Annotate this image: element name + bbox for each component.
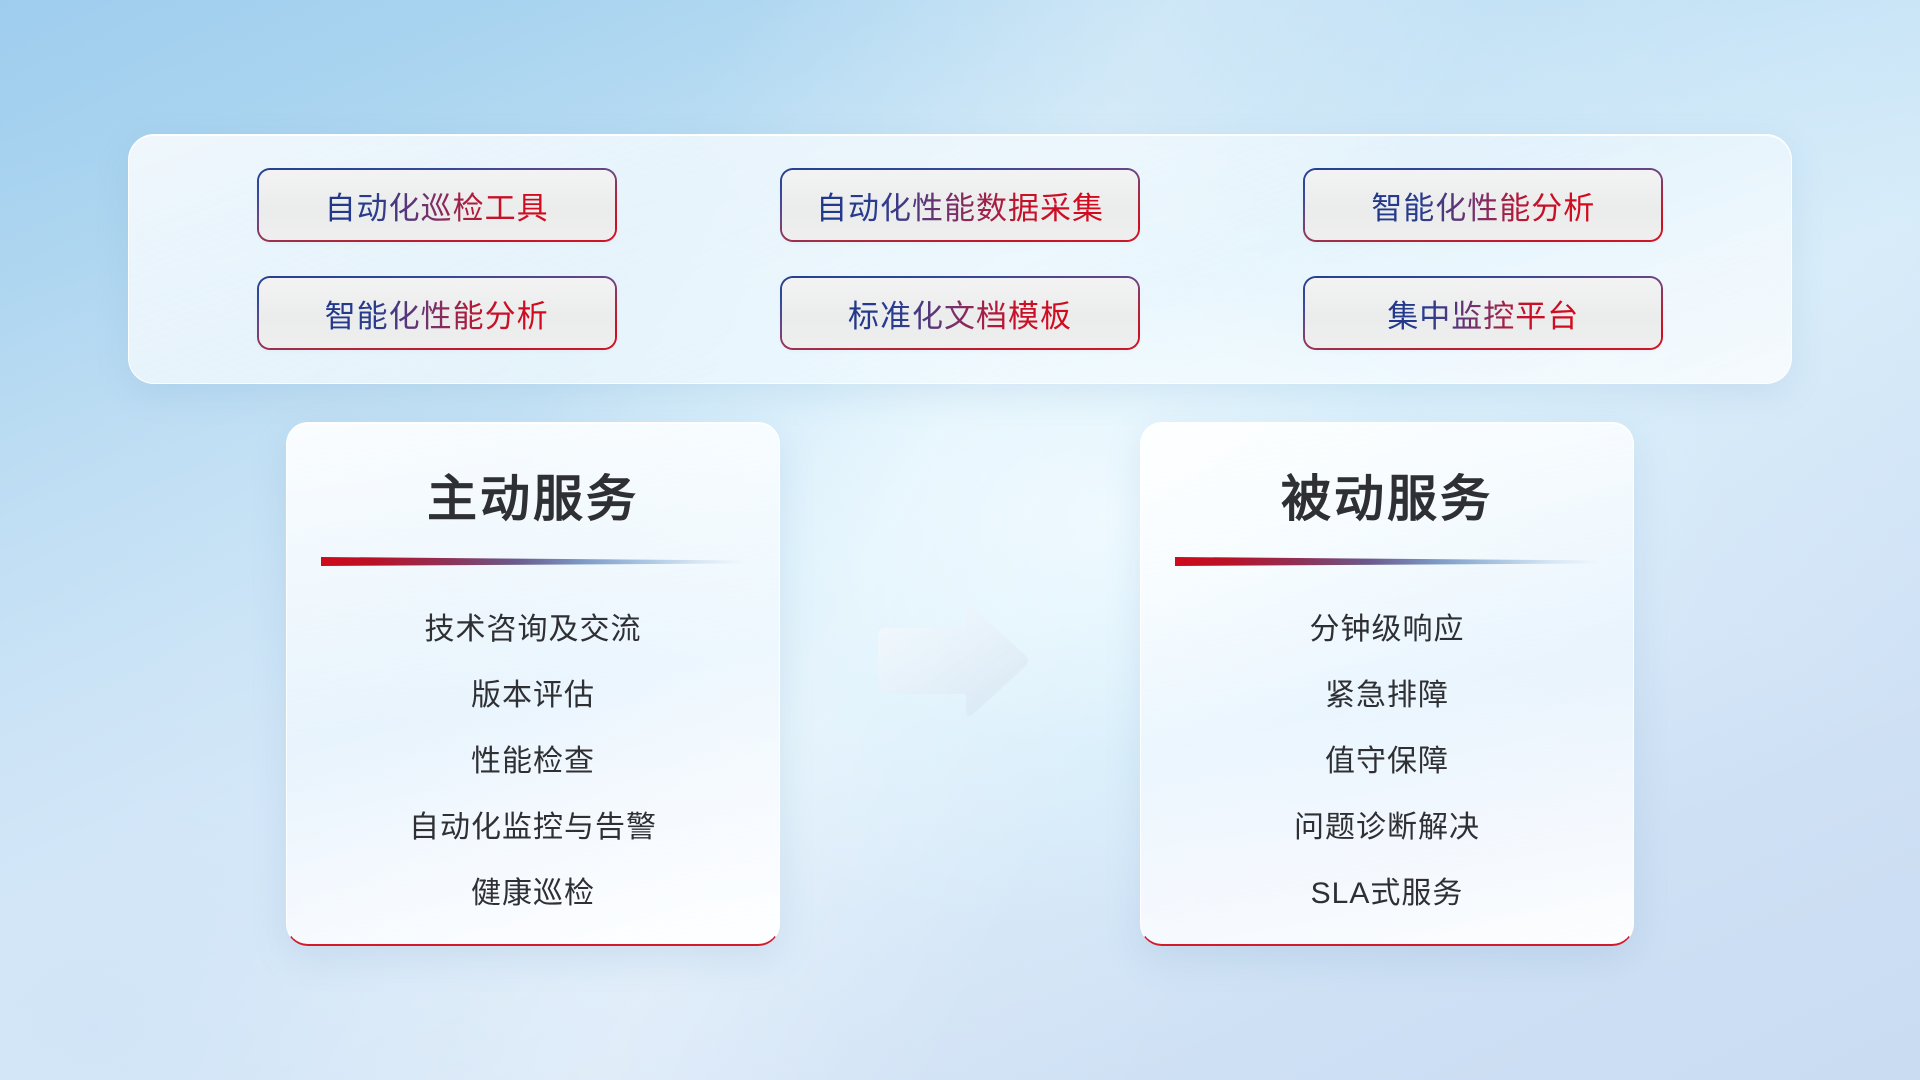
list-item: 分钟级响应: [1310, 604, 1465, 648]
list-item: 版本评估: [471, 670, 595, 714]
card-divider: [1175, 557, 1599, 566]
chip-surface: 自动化性能数据采集: [782, 170, 1138, 240]
capability-chip-label: 标准化文档模板: [848, 291, 1072, 336]
chip-surface: 智能化性能分析: [259, 278, 615, 348]
card-divider-bar: [321, 557, 745, 566]
capability-chip-grid: 自动化巡检工具 自动化性能数据采集 智能化性能分析 智能化性能分析: [129, 135, 1791, 383]
capability-chip-label: 智能化性能分析: [325, 291, 549, 336]
capability-chip-intelligent-performance-analysis-top[interactable]: 智能化性能分析: [1305, 170, 1661, 240]
capability-panel: 自动化巡检工具 自动化性能数据采集 智能化性能分析 智能化性能分析: [128, 134, 1792, 384]
service-card-title: 被动服务: [1141, 459, 1633, 531]
list-item: 性能检查: [471, 736, 595, 780]
chip-surface: 智能化性能分析: [1305, 170, 1661, 240]
capability-chip-automated-performance-data-collection[interactable]: 自动化性能数据采集: [782, 170, 1138, 240]
list-item: SLA式服务: [1311, 868, 1464, 912]
service-card-proactive: 主动服务 技术咨询及交流 版本评估 性能检查 自动化监控与告警 健康巡检: [286, 422, 780, 946]
list-item: 技术咨询及交流: [425, 604, 642, 648]
slide-canvas: 自动化巡检工具 自动化性能数据采集 智能化性能分析 智能化性能分析: [0, 0, 1920, 1080]
capability-chip-automated-inspection-tool[interactable]: 自动化巡检工具: [259, 170, 615, 240]
capability-chip-label: 自动化巡检工具: [325, 183, 549, 228]
list-item: 自动化监控与告警: [409, 802, 657, 846]
capability-chip-label: 集中监控平台: [1387, 291, 1579, 336]
card-divider: [321, 557, 745, 566]
service-item-list: 技术咨询及交流 版本评估 性能检查 自动化监控与告警 健康巡检: [287, 604, 779, 912]
service-item-list: 分钟级响应 紧急排障 值守保障 问题诊断解决 SLA式服务: [1141, 604, 1633, 912]
capability-chip-centralized-monitoring-platform[interactable]: 集中监控平台: [1305, 278, 1661, 348]
list-item: 紧急排障: [1325, 670, 1449, 714]
arrow-right-icon: [872, 602, 1032, 720]
capability-chip-label: 智能化性能分析: [1371, 183, 1595, 228]
chip-surface: 集中监控平台: [1305, 278, 1661, 348]
capability-chip-standardized-document-template[interactable]: 标准化文档模板: [782, 278, 1138, 348]
chip-surface: 标准化文档模板: [782, 278, 1138, 348]
list-item: 问题诊断解决: [1294, 802, 1480, 846]
service-card-reactive: 被动服务 分钟级响应 紧急排障 值守保障 问题诊断解决 SLA式服务: [1140, 422, 1634, 946]
card-divider-bar: [1175, 557, 1599, 566]
list-item: 值守保障: [1325, 736, 1449, 780]
chip-surface: 自动化巡检工具: [259, 170, 615, 240]
service-card-title: 主动服务: [287, 459, 779, 531]
list-item: 健康巡检: [471, 868, 595, 912]
capability-chip-intelligent-performance-analysis-bottom[interactable]: 智能化性能分析: [259, 278, 615, 348]
capability-chip-label: 自动化性能数据采集: [816, 183, 1104, 228]
